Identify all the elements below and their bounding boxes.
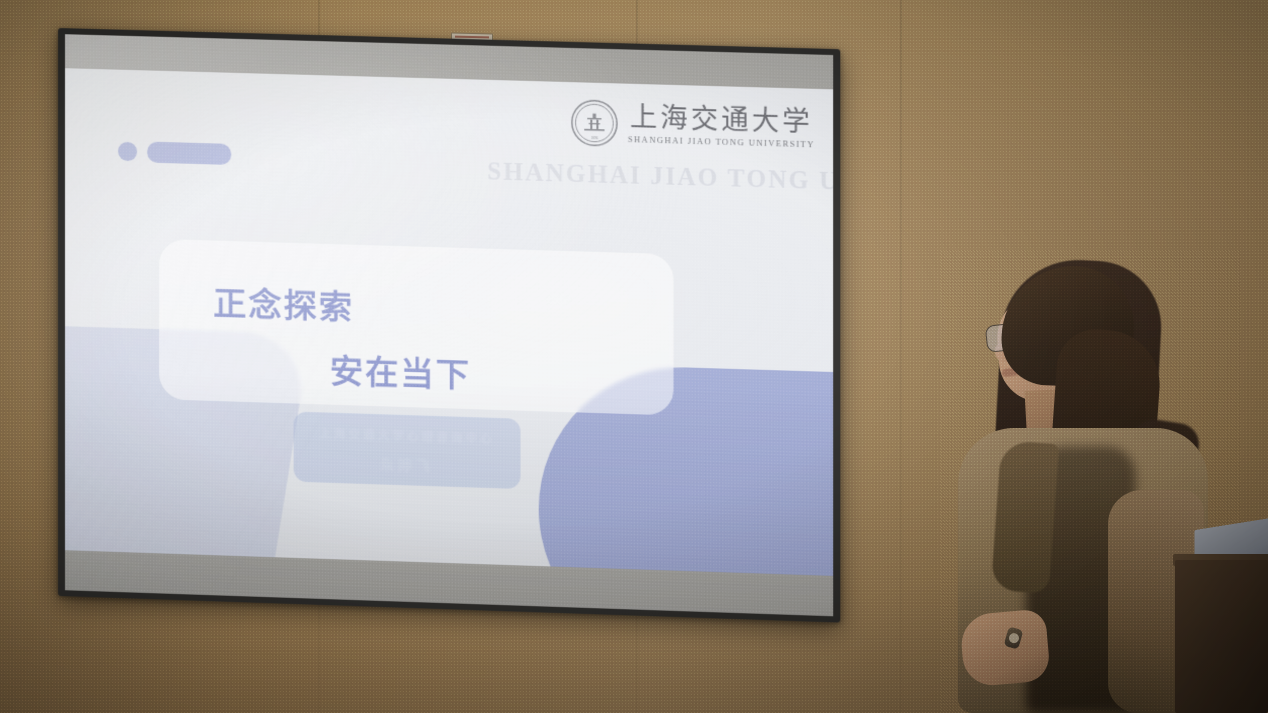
title-card: 正念探索 安在当下: [159, 239, 673, 415]
projection-screen: SHANGHAI JIAO TONG UNIVERSITY 1896: [58, 28, 840, 623]
title-line-2: 安在当下: [330, 344, 471, 397]
screen-surface: SHANGHAI JIAO TONG UNIVERSITY 1896: [65, 34, 833, 616]
decor-dot: [118, 142, 137, 162]
presenter-name-text: 朱婷飞: [294, 452, 521, 479]
title-line-1: 正念探索: [213, 277, 354, 329]
lectern-body: [1175, 560, 1268, 713]
watch-face: [1007, 632, 1019, 644]
logo-text-block: 上海交通大学 SHANGHAI JIAO TONG UNIVERSITY: [628, 104, 815, 150]
organization-text: 上海交通大学心理咨询中心: [294, 424, 521, 447]
lectern: [1175, 524, 1268, 713]
presentation-room-photo: SHANGHAI JIAO TONG UNIVERSITY 1896: [0, 0, 1268, 713]
clasped-hands: [959, 608, 1051, 687]
watermark-text: SHANGHAI JIAO TONG UNIVERSITY: [487, 158, 832, 196]
slide-canvas: SHANGHAI JIAO TONG UNIVERSITY 1896: [65, 68, 833, 576]
coat-lapel: [991, 440, 1059, 594]
decor-pill: [147, 142, 231, 165]
university-logo: 1896 上海交通大学 SHANGHAI JIAO TONG UNIVERSIT…: [570, 98, 815, 153]
subtitle-card: 上海交通大学心理咨询中心 朱婷飞: [294, 411, 521, 489]
screen-bezel: SHANGHAI JIAO TONG UNIVERSITY 1896: [58, 28, 840, 623]
logo-chinese-name: 上海交通大学: [630, 104, 813, 138]
svg-text:1896: 1896: [591, 136, 598, 140]
sjtu-seal-icon: 1896: [570, 98, 619, 148]
